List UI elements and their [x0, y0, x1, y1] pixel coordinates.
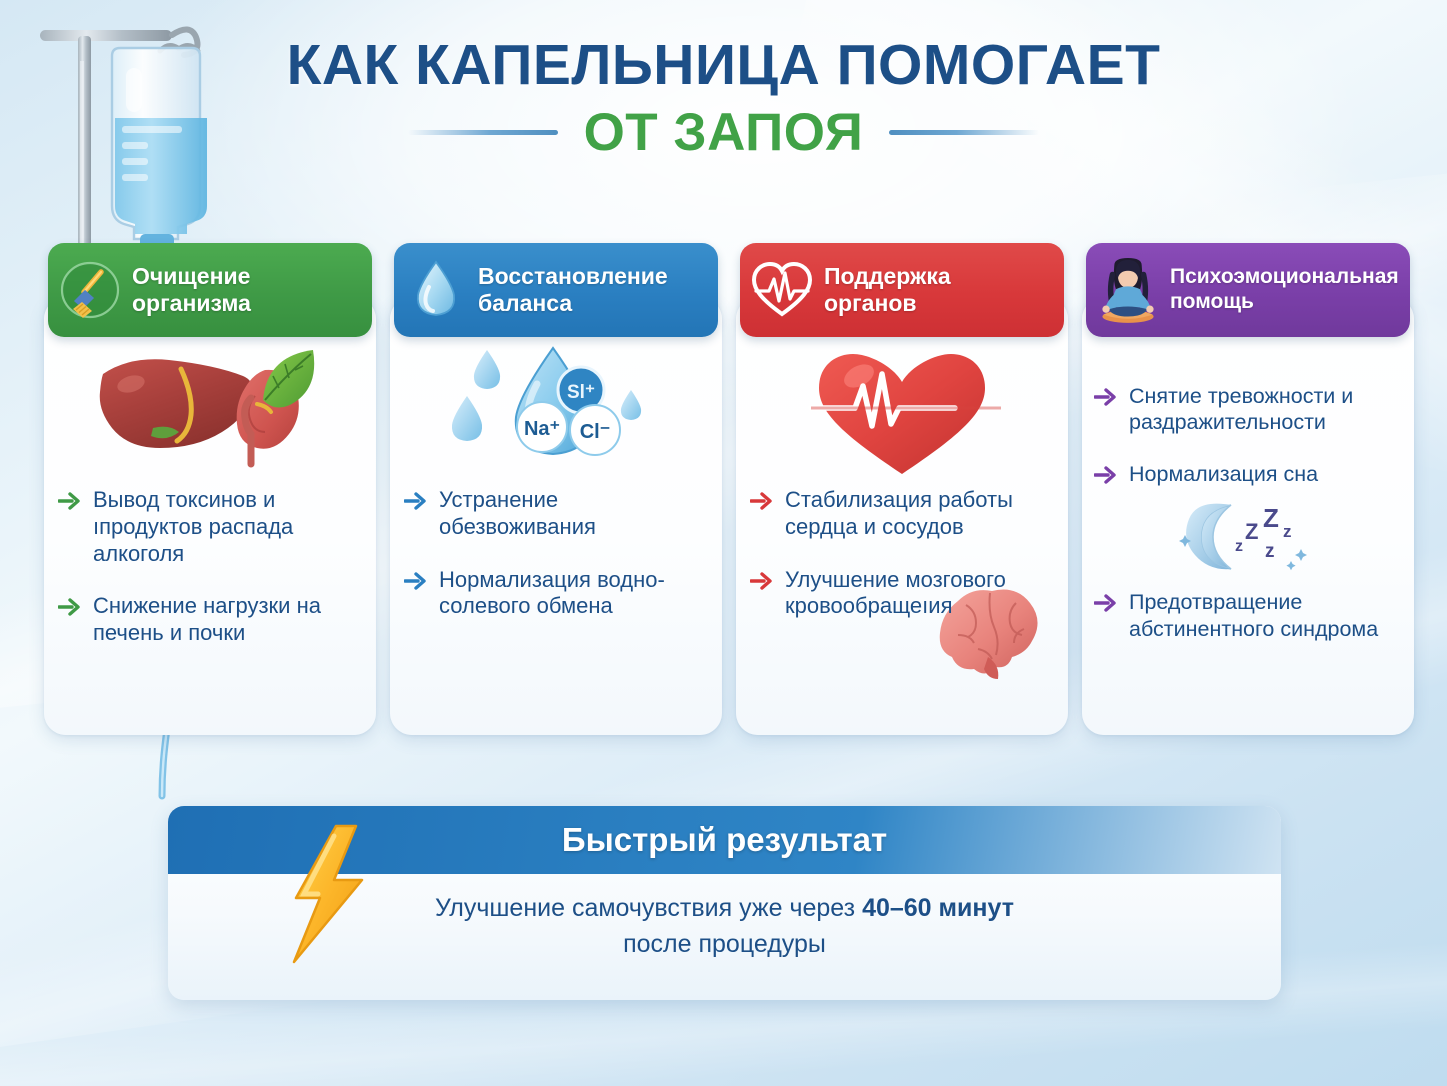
- card-title-cleansing: Очищение организма: [132, 263, 251, 317]
- svg-text:z: z: [1265, 541, 1275, 562]
- bullet-text: Снижение нагрузки на печень и почки: [93, 593, 358, 647]
- broom-icon: [58, 258, 122, 322]
- svg-text:Na⁺: Na⁺: [524, 418, 560, 440]
- arrow-right-icon: [750, 492, 774, 515]
- card-bullets-organs: Стабилизация работы сердца и сосудов Улу…: [736, 487, 1068, 646]
- card-title-line2: организма: [132, 290, 251, 316]
- arrow-right-icon: [1094, 594, 1118, 617]
- card-header-balance: Восстановление баланса: [394, 243, 718, 337]
- bullet-text: Вывод токсинов и ıпродуктов распада алко…: [93, 487, 358, 567]
- bullet-item: Устранение обезвоживания: [404, 487, 704, 541]
- svg-text:z: z: [1235, 538, 1243, 555]
- card-title-line2: баланса: [478, 290, 572, 316]
- card-title-line1: Психоэмоциональная: [1170, 265, 1399, 288]
- arrow-right-icon: [1094, 388, 1118, 411]
- arrow-right-icon: [1094, 466, 1118, 489]
- moon-sleep-illustration: z Z Z z z: [1094, 497, 1404, 575]
- bullet-item: Улучшение мозгового кровообращеıия: [750, 567, 1050, 621]
- svg-text:Cl⁻: Cl⁻: [580, 421, 611, 443]
- card-title-line1: Поддержка: [824, 263, 951, 289]
- card-title-line2: помощь: [1170, 290, 1254, 313]
- card-title-organs: Поддержка органов: [824, 263, 951, 317]
- card-title-psychoemotional: Психоэмоциональная помощь: [1170, 265, 1399, 315]
- card-title-line1: Очищение: [132, 263, 250, 289]
- svg-text:Sl⁺: Sl⁺: [567, 382, 595, 403]
- card-title-line2: органов: [824, 290, 917, 316]
- card-title-line1: Восстановление: [478, 263, 668, 289]
- bullet-item: Предотвращение абстинентного синдрома: [1094, 589, 1404, 641]
- card-bullets-balance: Устранение обезвоживания Нормализация во…: [390, 487, 722, 646]
- bullet-item: Снижение нагрузки на печень и почки: [58, 593, 358, 647]
- banner-text-before: Улучшение самочувствия уже через: [435, 894, 862, 922]
- heart-pulse-icon: [750, 258, 814, 322]
- benefit-cards: Очищение организма: [44, 243, 1412, 743]
- card-title-balance: Восстановление баланса: [478, 263, 668, 317]
- infographic-poster: КАК КАПЕЛЬНИЦА ПОМОГАЕТ ОТ ЗАПОЯ: [0, 0, 1447, 1086]
- bullet-item: Нормализация сна: [1094, 461, 1404, 489]
- card-organs[interactable]: Поддержка органов: [736, 243, 1066, 743]
- bullet-text: Нормализация водно-солевого обмена: [439, 567, 704, 621]
- card-header-cleansing: Очищение организма: [48, 243, 372, 337]
- arrow-right-icon: [750, 572, 774, 595]
- banner-title: Быстрый результат: [562, 821, 887, 859]
- bullet-item: Вывод токсинов и ıпродуктов распада алко…: [58, 487, 358, 567]
- card-header-organs: Поддержка органов: [740, 243, 1064, 337]
- bullet-text: Стабилизация работы сердца и сосудов: [785, 487, 1050, 541]
- arrow-right-icon: [58, 598, 82, 621]
- banner-highlight: 40–60 минут: [862, 894, 1014, 922]
- heart-ecg-illustration: [736, 337, 1068, 487]
- bullet-text: Предотвращение абстинентного синдрома: [1129, 589, 1404, 641]
- title-rule-right: [889, 130, 1039, 135]
- svg-text:z: z: [1283, 522, 1292, 541]
- arrow-right-icon: [404, 492, 428, 515]
- bullet-item: Снятие тревожности и раздражительности: [1094, 383, 1404, 435]
- banner-text-line2: после процедуры: [623, 930, 826, 958]
- poster-title: КАК КАПЕЛЬНИЦА ПОМОГАЕТ ОТ ЗАПОЯ: [0, 36, 1447, 163]
- bullet-item: Стабилизация работы сердца и сосудов: [750, 487, 1050, 541]
- card-bullets-cleansing: Вывод токсинов и ıпродуктов распада алко…: [44, 487, 376, 673]
- arrow-right-icon: [58, 492, 82, 515]
- bullet-text: Нормализация сна: [1129, 461, 1318, 487]
- svg-text:Z: Z: [1263, 503, 1279, 533]
- water-drop-icon: [404, 258, 468, 322]
- bullet-item: Нормализация водно-солевого обмена: [404, 567, 704, 621]
- bullet-text: Улучшение мозгового кровообращеıия: [785, 567, 1050, 621]
- bullet-text: Устранение обезвоживания: [439, 487, 704, 541]
- title-line-1: КАК КАПЕЛЬНИЦА ПОМОГАЕТ: [0, 36, 1447, 94]
- card-header-psychoemotional: Психоэмоциональная помощь: [1086, 243, 1410, 337]
- card-psychoemotional[interactable]: Психоэмоциональная помощь Снятие тревожн…: [1082, 243, 1412, 743]
- arrow-right-icon: [404, 572, 428, 595]
- card-cleansing[interactable]: Очищение организма: [44, 243, 374, 743]
- meditating-person-icon: [1096, 258, 1160, 322]
- svg-text:Z: Z: [1245, 519, 1258, 544]
- bullet-text: Снятие тревожности и раздражительности: [1129, 383, 1404, 435]
- liver-kidney-illustration: [44, 337, 376, 487]
- card-bullets-psychoemotional: Снятие тревожности и раздражительности Н…: [1082, 383, 1414, 668]
- card-balance[interactable]: Восстановление баланса: [390, 243, 720, 743]
- title-line-2: ОТ ЗАПОЯ: [584, 102, 864, 163]
- lightning-bolt-icon: [282, 824, 372, 969]
- title-rule-left: [408, 130, 558, 135]
- electrolyte-droplets-illustration: Sl⁺ Na⁺ Cl⁻: [390, 337, 722, 487]
